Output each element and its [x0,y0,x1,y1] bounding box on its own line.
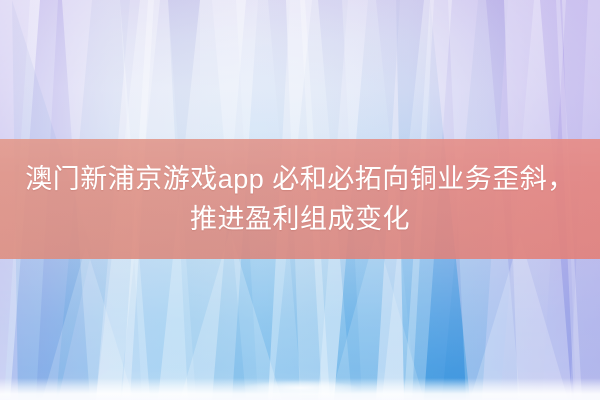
bottom-white-strip [0,378,600,400]
title-line-2: 推进盈利组成变化 [190,199,410,239]
title-line-1: 澳门新浦京游戏app 必和必拓向铜业务歪斜， [25,159,575,199]
banner-image: 澳门新浦京游戏app 必和必拓向铜业务歪斜， 推进盈利组成变化 [0,0,600,400]
title-overlay-band: 澳门新浦京游戏app 必和必拓向铜业务歪斜， 推进盈利组成变化 [0,139,600,259]
bottom-glow [240,380,360,396]
